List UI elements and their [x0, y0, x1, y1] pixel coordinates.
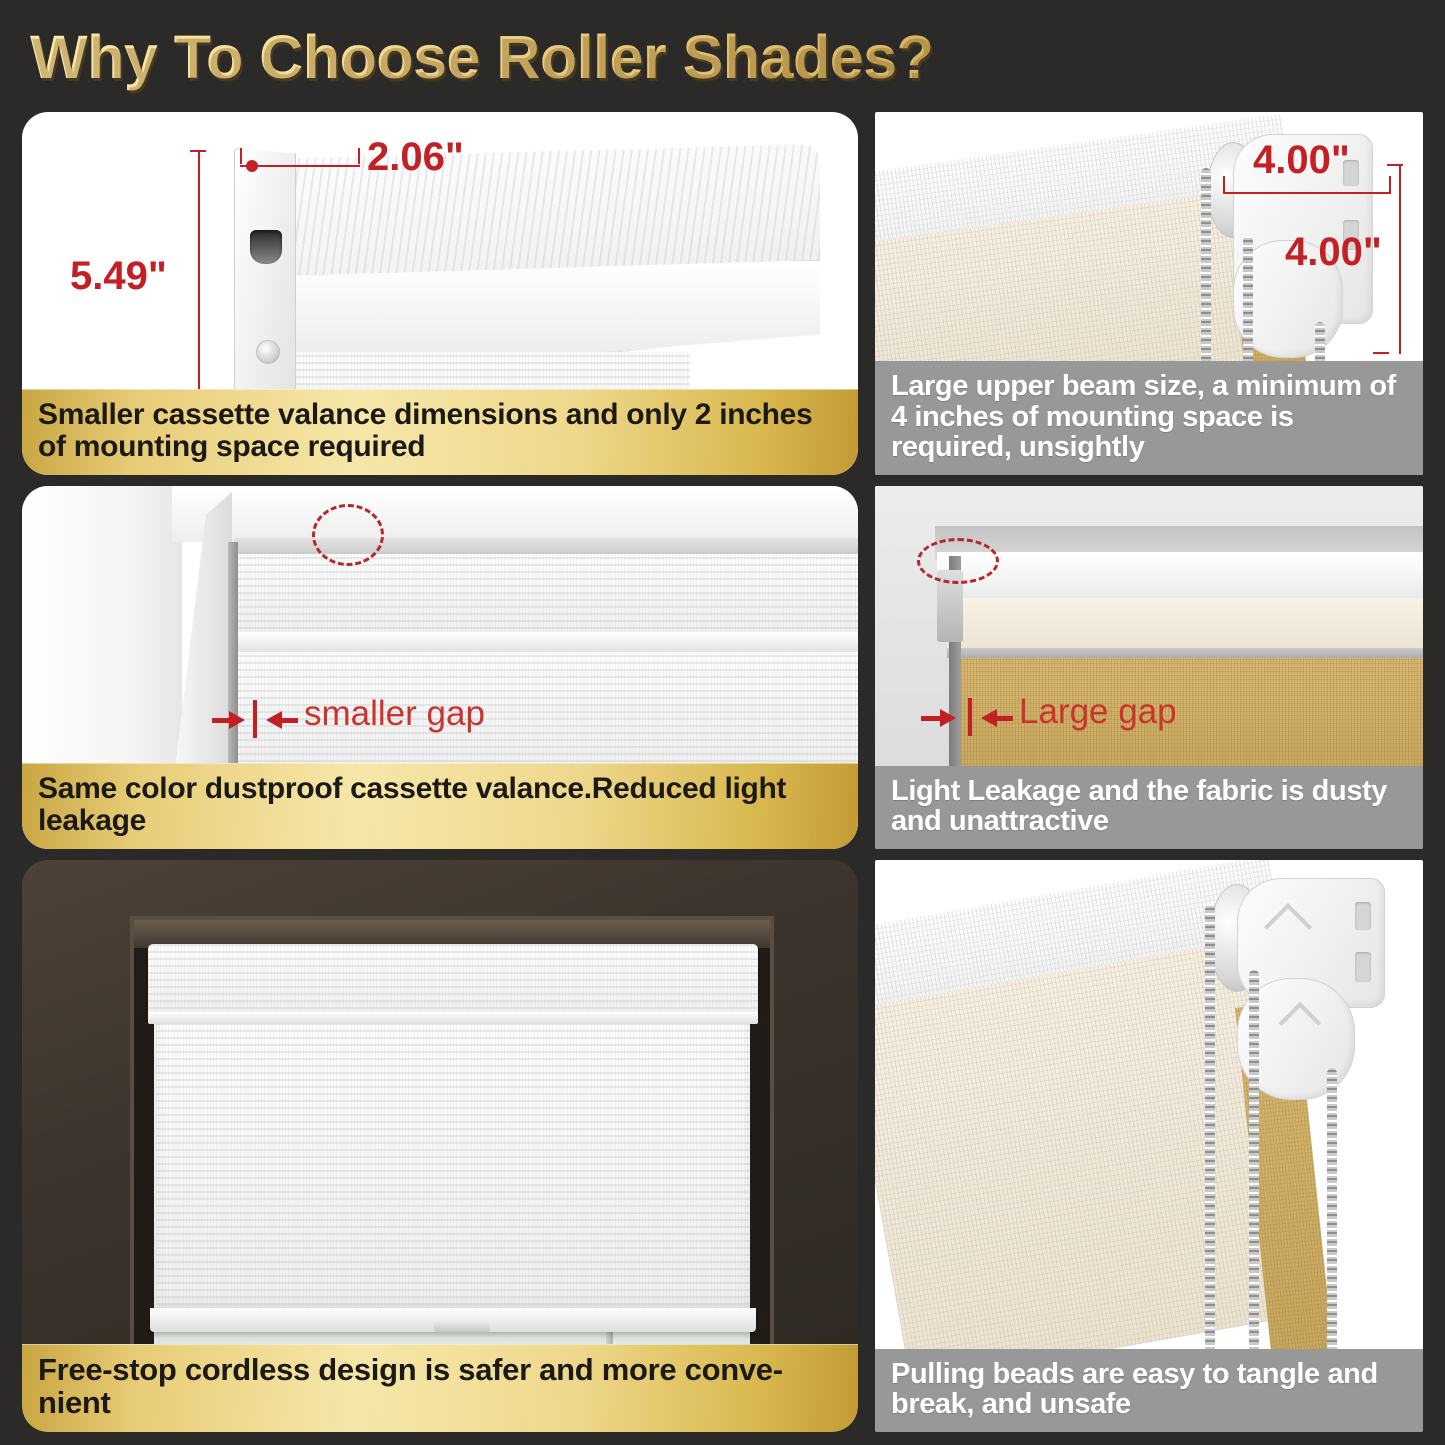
window-frame-left [22, 486, 182, 776]
head-rail-under-edge [947, 648, 1423, 658]
end-cap-screw [256, 340, 280, 364]
bead-chain-front [1205, 904, 1215, 1374]
beam-width-dimension-line [1223, 192, 1391, 194]
gap-callout-label: Large gap [1019, 692, 1177, 732]
beam-height-dimension-line [1399, 164, 1401, 354]
bead-chain-rear [1327, 1068, 1337, 1374]
end-cap-bearing [250, 230, 282, 264]
panel-cordless-design: Free-stop cordless design is safer and m… [22, 860, 858, 1432]
beam-height-tick-bottom [1373, 352, 1389, 354]
height-dimension-label: 5.49" [70, 254, 167, 299]
beam-width-tick-left [1223, 176, 1225, 192]
bracket-slot-upper [1355, 902, 1371, 930]
side-gap-channel [228, 542, 238, 776]
gap-highlight-circle [917, 538, 999, 584]
beam-height-tick-top [1387, 164, 1403, 166]
panel-caption: Pulling beads are easy to tangle and bre… [875, 1349, 1423, 1432]
panel-caption: Light Leakage and the fabric is dusty an… [875, 766, 1423, 849]
height-dimension-tick-top [190, 150, 206, 152]
beam-width-tick-right [1389, 176, 1391, 192]
width-dimension-tick-right [358, 148, 360, 164]
panel-caption: Same color dustproof cassette valance.Re… [22, 763, 858, 849]
beam-height-dimension-label: 4.00" [1285, 230, 1382, 275]
panel-cassette-valance: 5.49" 2.06" Smaller cassette valance dim… [22, 112, 858, 475]
panel-pulling-beads: Pulling beads are easy to tangle and bre… [875, 860, 1423, 1432]
cassette-valance [148, 944, 758, 1016]
width-dimension-dot [246, 160, 258, 172]
panel-light-leakage: Large gap Light Leakage and the fabric i… [875, 486, 1423, 849]
bottom-rail-grip [434, 1322, 490, 1332]
gap-arrow-left-head [940, 709, 956, 727]
pulling-beads-image [875, 860, 1423, 1432]
page-title: Why To Choose Roller Shades? [30, 18, 1030, 96]
gap-arrow-right-stem [997, 716, 1013, 721]
gap-highlight-circle [312, 504, 384, 566]
bracket-slot-lower [1355, 952, 1371, 982]
panel-large-upper-beam: 4.00" 4.00" Large upper beam size, a min… [875, 112, 1423, 475]
panel-dustproof-cassette: smaller gap Same color dustproof cassett… [22, 486, 858, 849]
gap-callout-label: smaller gap [304, 694, 485, 734]
gap-arrow-left-stem [921, 716, 941, 721]
panel-caption: Large upper beam size, a minimum of 4 in… [875, 361, 1423, 475]
shade-fabric-upper [234, 554, 858, 636]
valance-end-cap [234, 148, 296, 414]
gap-arrow-right-head [981, 709, 997, 727]
page-title-text: Why To Choose Roller Shades? [30, 22, 933, 92]
gap-arrow-right-stem [282, 718, 298, 723]
gap-arrow-left-stem [212, 718, 230, 723]
gap-measure-bar [253, 700, 257, 738]
height-dimension-line [198, 150, 200, 418]
width-dimension-label: 2.06" [367, 135, 464, 180]
panel-caption: Smaller cassette valance dimensions and … [22, 389, 858, 475]
bead-chain-middle [1249, 970, 1259, 1374]
head-rail-face [947, 598, 1423, 650]
valance-lip [148, 1012, 758, 1024]
width-dimension-tick-left [240, 148, 242, 164]
window-frame-top [172, 486, 858, 542]
panel-caption: Free-stop cordless design is safer and m… [22, 1344, 858, 1432]
gap-arrow-right-head [266, 711, 282, 729]
comparison-grid: 5.49" 2.06" Smaller cassette valance dim… [0, 104, 1445, 1440]
beam-width-dimension-label: 4.00" [1253, 138, 1350, 183]
shade-fabric [156, 1024, 750, 1312]
width-dimension-line [240, 165, 360, 167]
gap-measure-bar [968, 698, 972, 736]
gap-arrow-left-head [229, 711, 245, 729]
cassette-lower-lip [234, 632, 858, 652]
